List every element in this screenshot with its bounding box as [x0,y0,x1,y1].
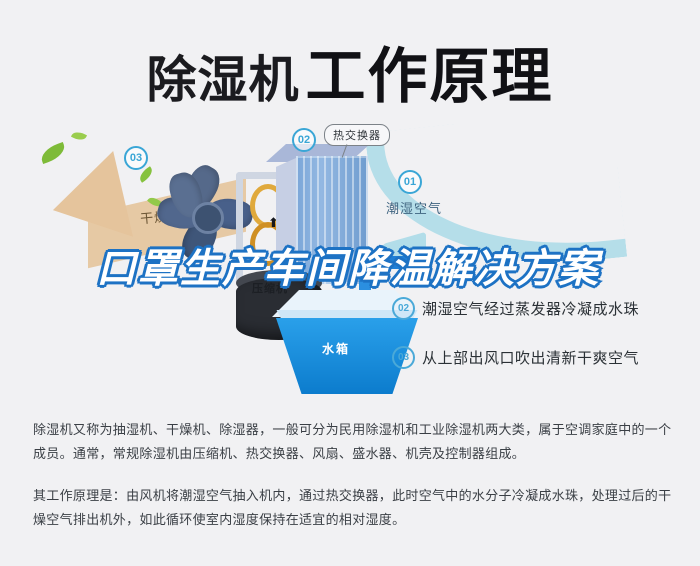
body-copy: 除湿机又称为抽湿机、干燥机、除湿器，一般可分为民用除湿机和工业除湿机两大类，属于… [33,418,673,550]
step-list: 02 潮湿空气经过蒸发器冷凝成水珠 03 从上部出风口吹出清新干爽空气 [392,297,692,395]
body-paragraph-2: 其工作原理是：由风机将潮湿空气抽入机内，通过热交换器，此时空气中的水分子冷凝成水… [33,484,673,532]
list-item: 03 从上部出风口吹出清新干爽空气 [392,346,692,369]
fan-hub [192,202,224,234]
step-badge: 02 [392,297,415,320]
step-marker-02: 02 [292,128,316,152]
page-title: 除湿机工作原理 [0,28,700,115]
page-title-part2: 工作原理 [306,43,554,110]
list-item: 02 潮湿空气经过蒸发器冷凝成水珠 [392,297,692,320]
page-title-part1: 除湿机 [147,52,300,108]
overlay-headline: 口罩生产车间降温解决方案 [96,246,616,292]
body-paragraph-1: 除湿机又称为抽湿机、干燥机、除湿器，一般可分为民用除湿机和工业除湿机两大类，属于… [33,418,673,466]
dry-air-arrow-head [43,151,133,253]
step-marker-03: 03 [124,146,148,170]
step-marker-01: 01 [398,170,422,194]
page-root: 除湿机工作原理 干燥空气 [0,0,700,566]
heat-exchanger-callout: 热交换器 [324,124,390,146]
water-tank-label: 水箱 [322,340,350,357]
step-text: 潮湿空气经过蒸发器冷凝成水珠 [422,298,639,319]
leaf-icon [71,129,87,142]
step-text: 从上部出风口吹出清新干爽空气 [422,347,639,368]
step-badge: 03 [392,346,415,369]
humid-air-label: 潮湿空气 [386,198,442,217]
